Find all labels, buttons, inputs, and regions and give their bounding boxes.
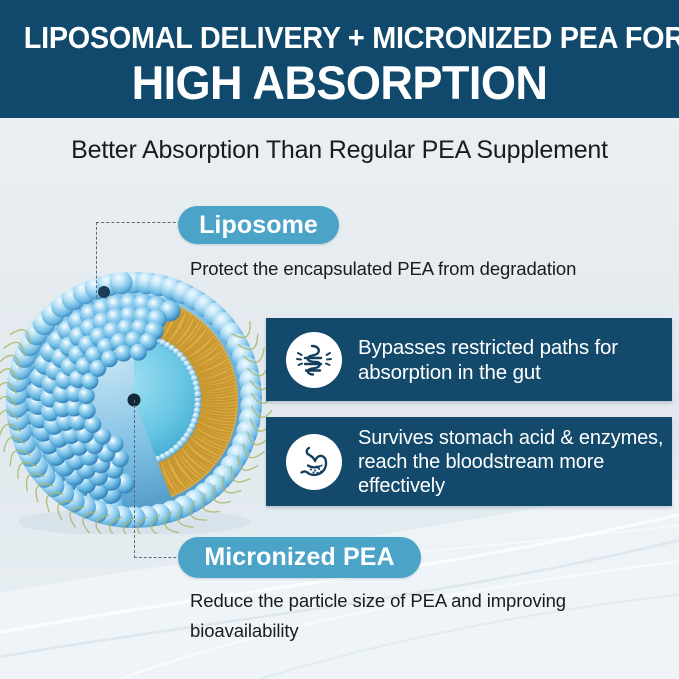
header-banner: LIPOSOMAL DELIVERY + MICRONIZED PEA FOR … (0, 0, 679, 118)
caption-micronized-pea: Reduce the particle size of PEA and impr… (190, 586, 630, 646)
feature-box-stomach-survival[interactable]: Survives stomach acid & enzymes, reach t… (266, 417, 672, 506)
leader-anchor-top (98, 286, 110, 298)
liposome-diagram (0, 272, 272, 534)
stomach-icon (286, 434, 342, 490)
infographic-page: LIPOSOMAL DELIVERY + MICRONIZED PEA FOR … (0, 0, 679, 679)
badge-liposome[interactable]: Liposome (178, 206, 339, 244)
feature-box-gut-absorption[interactable]: Bypasses restricted paths for absorption… (266, 318, 672, 401)
subtitle: Better Absorption Than Regular PEA Suppl… (0, 136, 679, 165)
header-title-line2: HIGH ABSORPTION (14, 55, 666, 110)
badge-micronized-pea[interactable]: Micronized PEA (178, 537, 421, 578)
intestine-icon (286, 332, 342, 388)
badge-micronized-pea-label: Micronized PEA (204, 543, 394, 572)
feature-text-stomach-survival: Survives stomach acid & enzymes, reach t… (358, 426, 672, 498)
feature-text-gut-absorption: Bypasses restricted paths for absorption… (358, 335, 672, 385)
badge-liposome-label: Liposome (199, 211, 318, 240)
leader-anchor-center (128, 394, 141, 407)
caption-liposome: Protect the encapsulated PEA from degrad… (190, 254, 660, 284)
header-title-line1: LIPOSOMAL DELIVERY + MICRONIZED PEA FOR (24, 20, 655, 56)
